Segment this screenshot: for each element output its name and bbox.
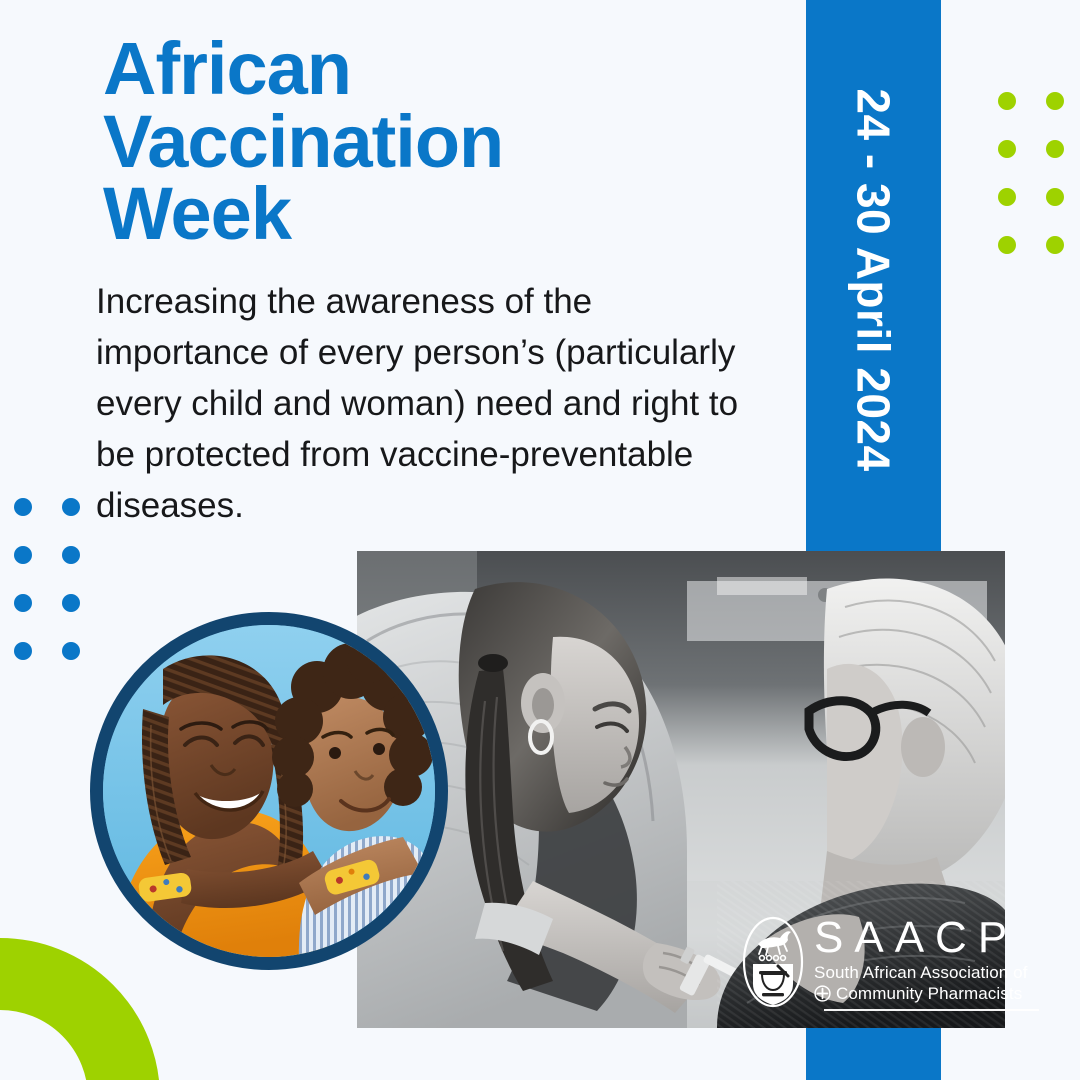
- blue-dot: [62, 642, 80, 660]
- logo-line-2: Community Pharmacists: [836, 983, 1022, 1004]
- body-text: Increasing the awareness of the importan…: [96, 276, 746, 531]
- date-band-text-wrap: 24 - 30 April 2024: [806, 0, 941, 560]
- logo-line-1: South African Association of: [814, 962, 1039, 983]
- green-dot: [1046, 140, 1064, 158]
- logo-line-2-row: Community Pharmacists: [814, 983, 1039, 1004]
- blue-dot: [14, 498, 32, 516]
- date-label: 24 - 30 April 2024: [847, 88, 901, 471]
- saacp-logo: SAACP South African Association of Commu…: [742, 916, 1039, 1011]
- blue-dot: [14, 642, 32, 660]
- poster-canvas: 24 - 30 April 2024 African Vaccination W…: [0, 0, 1080, 1080]
- logo-text-block: SAACP South African Association of Commu…: [814, 916, 1039, 1011]
- green-dot-grid: [998, 92, 1080, 284]
- title-line-2: Vaccination: [103, 106, 763, 179]
- blue-dot: [62, 594, 80, 612]
- saacp-emblem-icon: [742, 916, 804, 1008]
- green-quarter-arc: [0, 938, 160, 1080]
- green-dot: [1046, 236, 1064, 254]
- green-dot: [1046, 92, 1064, 110]
- green-dot: [998, 140, 1016, 158]
- title-line-3: Week: [103, 178, 763, 251]
- green-dot: [998, 92, 1016, 110]
- title-line-1: African: [103, 33, 763, 106]
- logo-underline: [824, 1009, 1039, 1011]
- blue-dot: [14, 546, 32, 564]
- page-title: African Vaccination Week: [103, 33, 763, 251]
- blue-dot: [62, 546, 80, 564]
- blue-dot: [62, 498, 80, 516]
- green-dot: [1046, 188, 1064, 206]
- green-dot: [998, 236, 1016, 254]
- green-dot: [998, 188, 1016, 206]
- inset-photo: [90, 612, 448, 970]
- cross-in-circle-icon: [814, 985, 831, 1002]
- blue-dot: [14, 594, 32, 612]
- logo-acronym: SAACP: [814, 916, 1039, 960]
